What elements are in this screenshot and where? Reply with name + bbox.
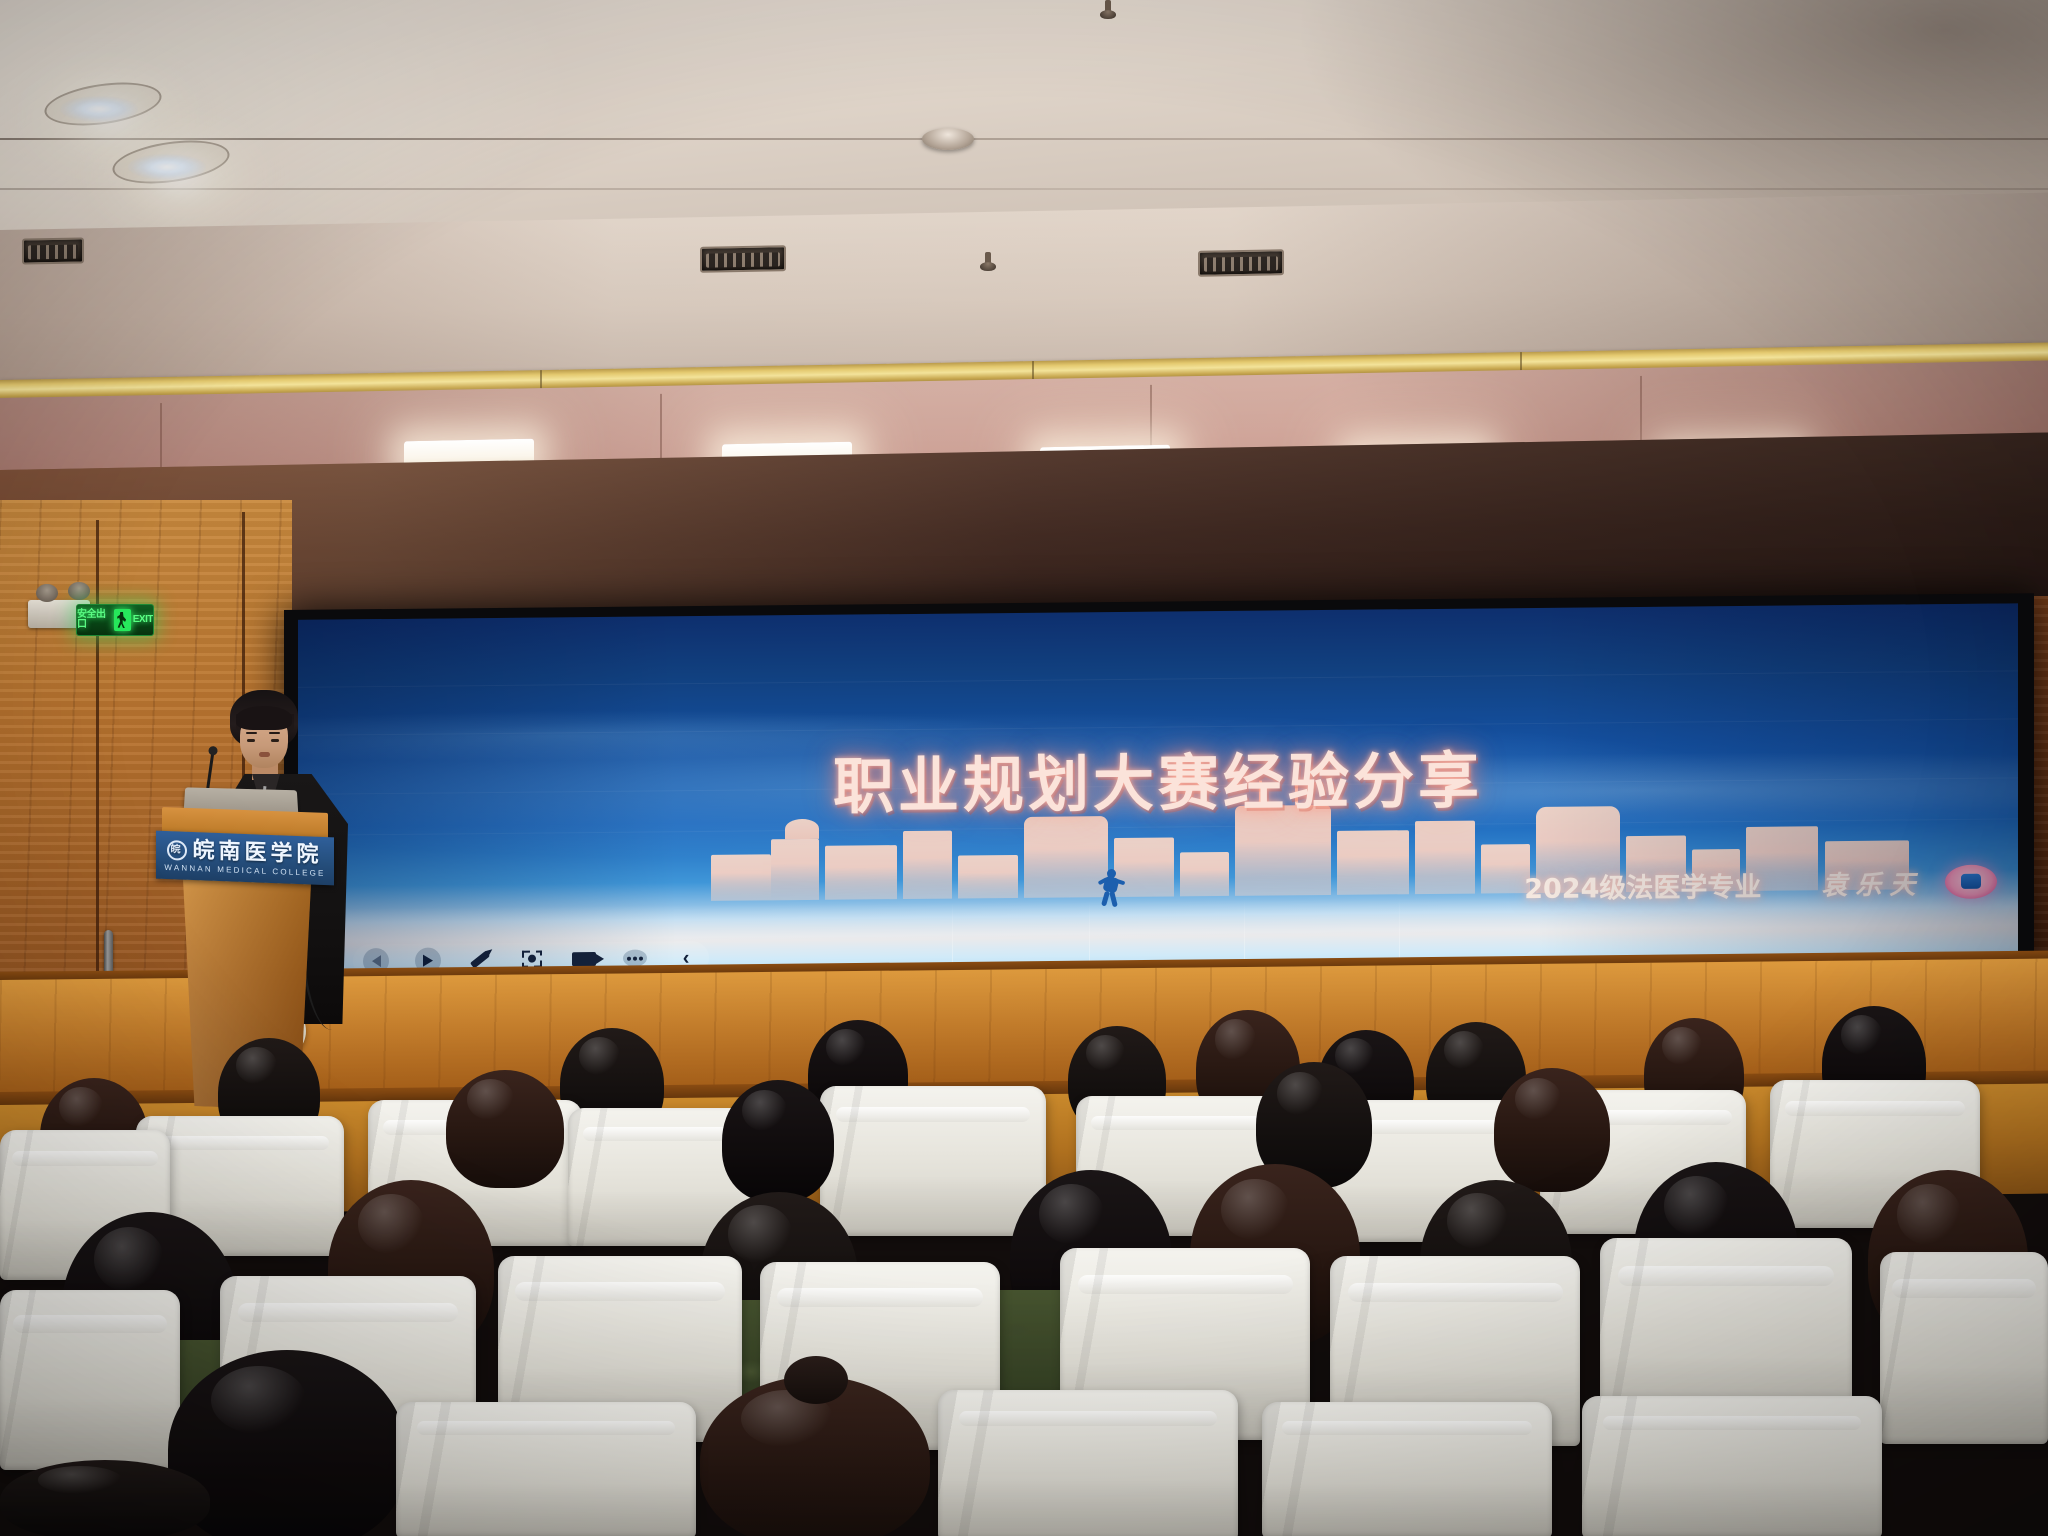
audience-chair [1880,1252,2048,1444]
runner-silhouette [1098,869,1124,915]
audience-head [446,1070,564,1188]
exit-sign-label-cn: 安全出口 [77,610,112,630]
ceiling-spotlight-2 [128,154,206,180]
college-seal-icon: 皖 [167,840,187,861]
sprinkler-head [1100,0,1116,24]
ceiling-air-vent [22,237,84,264]
exit-sign-label-en: EXIT [133,615,153,625]
led-screen-bezel: 职业规划大赛经验分享 2024级法医学专业 袁乐天 ‹ [284,593,2034,1000]
exit-sign: 安全出口 EXIT [76,604,154,636]
ceiling-air-vent [1198,249,1284,277]
audience-head [1494,1068,1610,1192]
slide-title: 职业规划大赛经验分享 [298,725,2018,831]
audience-hair-bun [784,1356,848,1404]
presentation-screen[interactable]: 职业规划大赛经验分享 2024级法医学专业 袁乐天 ‹ [298,603,2018,990]
lecture-hall-photo: 安全出口 EXIT [0,0,2048,1536]
audience-head [0,1460,210,1536]
slide-subtitle-row: 2024级法医学专业 袁乐天 [1524,863,1923,906]
sprinkler-head [980,252,996,276]
audience-chair [0,1290,180,1470]
audience-head [722,1080,834,1202]
running-man-icon [114,609,131,631]
presenter-eye [247,739,255,742]
smoke-detector [922,128,974,150]
presenter-eyebrow [269,732,280,734]
emergency-light-bulb [36,584,58,602]
audience-chair [820,1086,1046,1236]
ceiling-seam [0,188,2048,190]
podium-nameplate: 皖 皖南医学院 WANNAN MEDICAL COLLEGE [156,831,334,886]
slide-presenter-name: 袁乐天 [1821,864,1923,902]
presenter-eyebrow [246,732,257,734]
audience-chair [1262,1402,1552,1536]
ceiling-seam [0,138,2048,140]
ceiling-air-vent [700,245,786,273]
audience-chair [938,1390,1238,1536]
audience-chair [396,1402,696,1536]
emergency-light-bulb [68,582,90,600]
presenter-fringe [236,706,292,730]
podium-institution-cn-row: 皖 皖南医学院 [167,839,322,867]
presenter-mouth [259,752,270,757]
podium-institution-cn: 皖南医学院 [192,839,322,866]
presenter-eye [271,739,279,742]
slide-class-label: 2024级法医学专业 [1524,865,1761,906]
audience-chair [1582,1396,1882,1536]
